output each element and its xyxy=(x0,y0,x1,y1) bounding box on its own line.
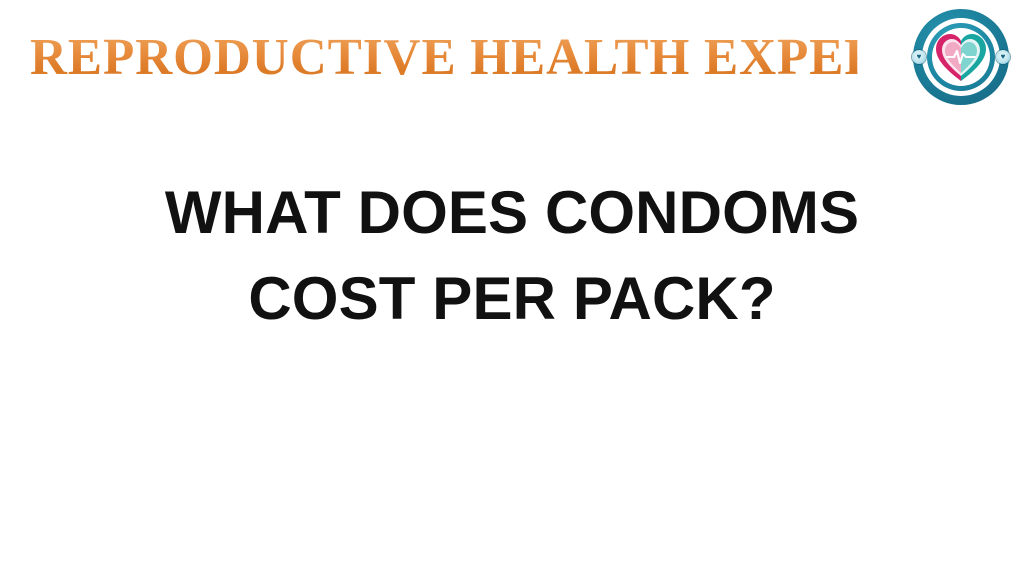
brand-header: REPRODUCTIVE HEALTH EXPERTS xyxy=(0,0,1024,118)
badge-accent-dot-left-icon: ♥ xyxy=(912,50,926,64)
headline-line-2: COST PER PACK? xyxy=(0,256,1024,342)
badge-accent-dot-right-icon: ♥ xyxy=(996,50,1010,64)
page-title: WHAT DOES CONDOMS COST PER PACK? xyxy=(0,170,1024,342)
badge-accent-dot-left-glyph: ♥ xyxy=(915,53,923,61)
page-root: REPRODUCTIVE HEALTH EXPERTS xyxy=(0,0,1024,576)
content-area-empty xyxy=(0,340,1024,576)
headline-line-1: WHAT DOES CONDOMS xyxy=(0,170,1024,256)
brand-wordmark: REPRODUCTIVE HEALTH EXPERTS xyxy=(30,28,857,88)
badge-inner-core xyxy=(932,28,990,86)
brand-logo-badge: ♥ ♥ xyxy=(913,9,1009,105)
badge-accent-dot-right-glyph: ♥ xyxy=(999,53,1007,61)
heart-icon xyxy=(932,28,990,86)
